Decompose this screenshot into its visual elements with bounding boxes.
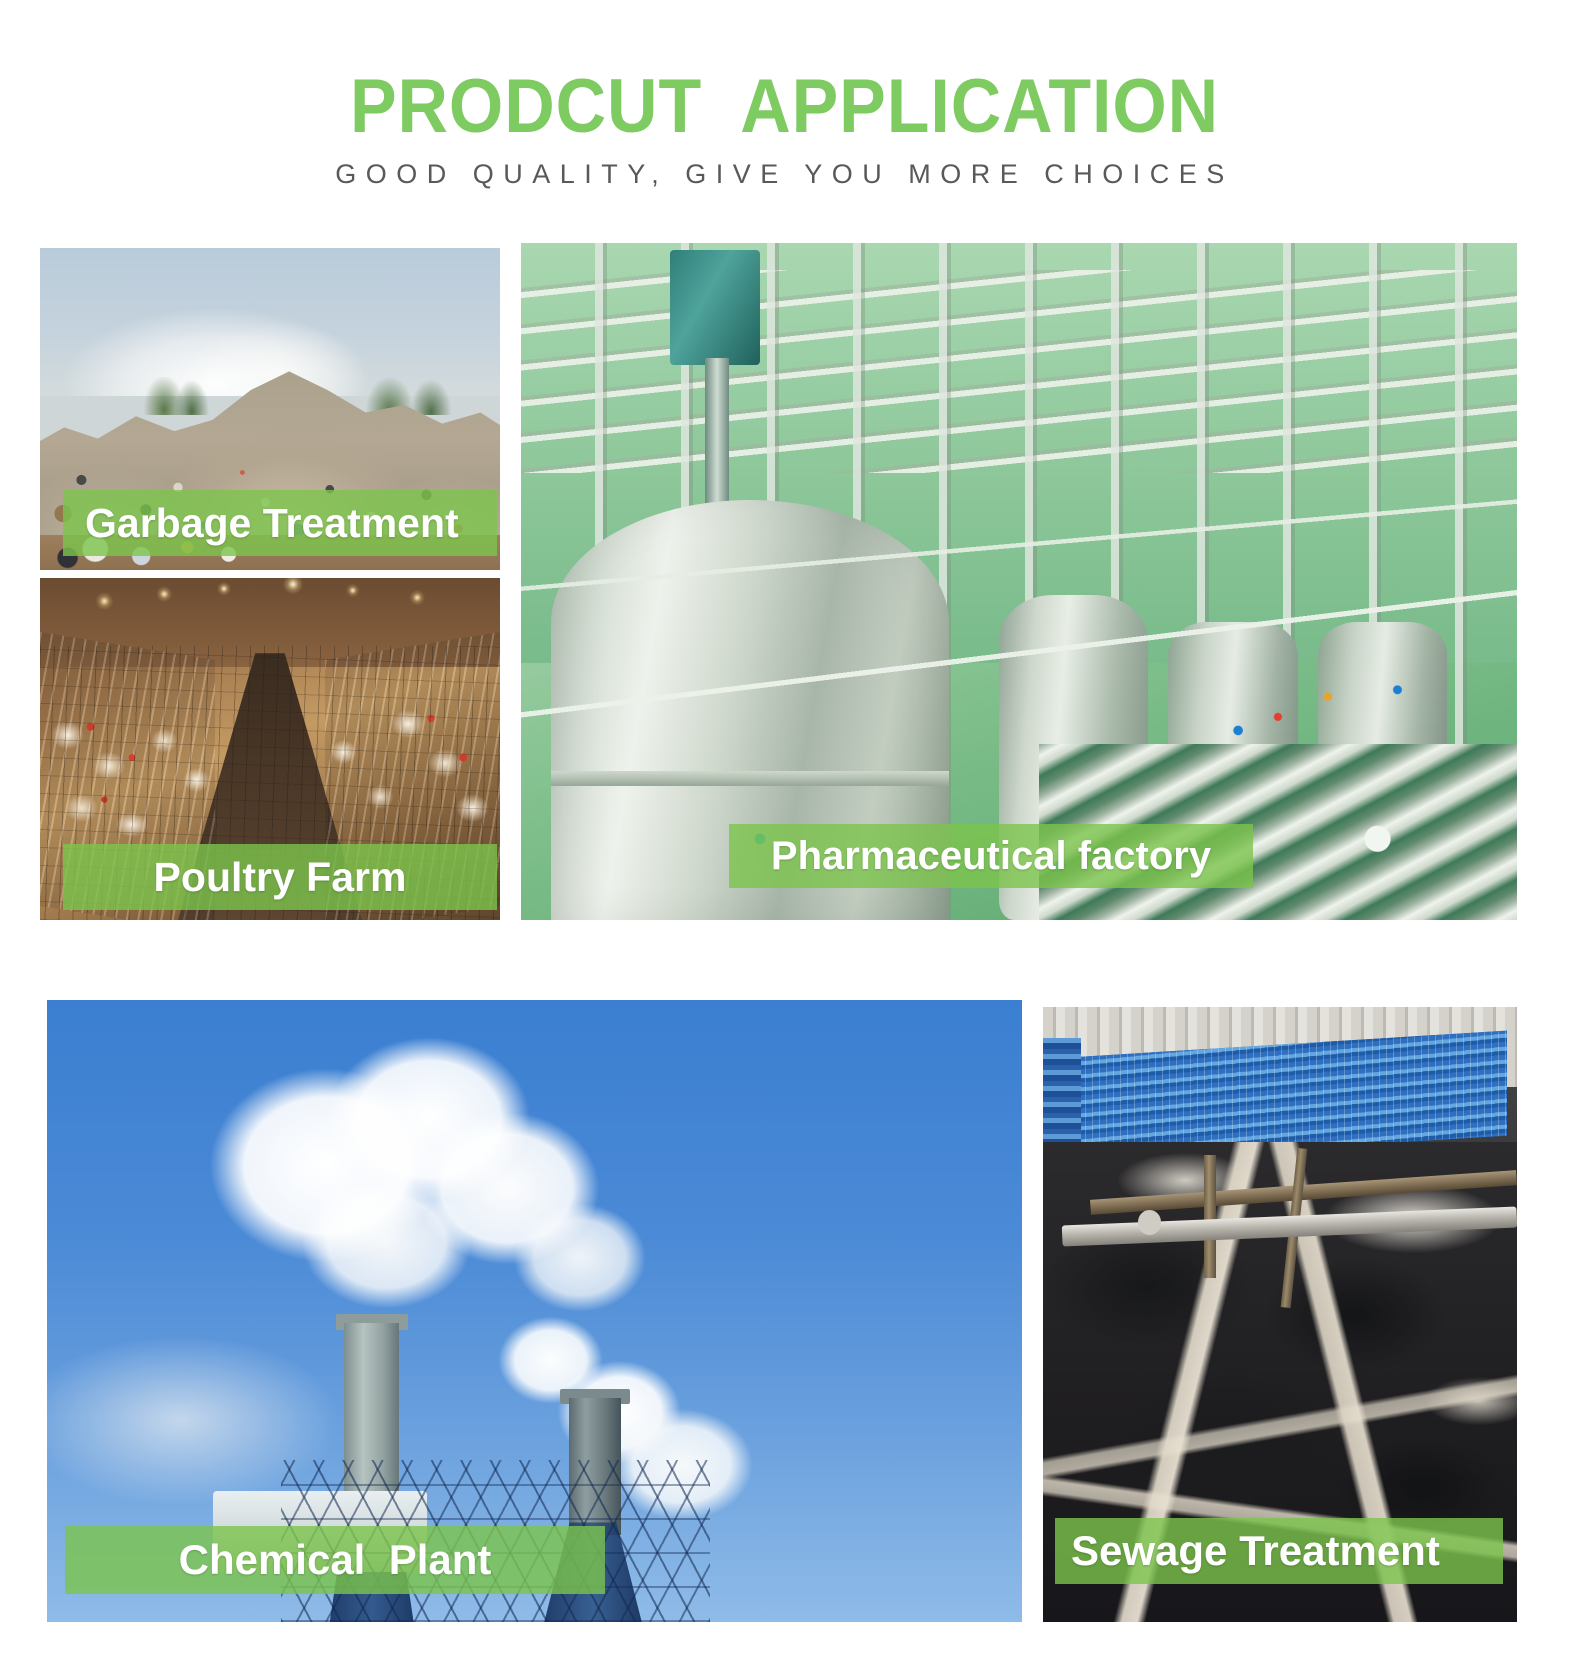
caption-poultry-farm: Poultry Farm: [63, 844, 497, 910]
caption-garbage-treatment: Garbage Treatment: [63, 490, 497, 556]
application-card-chemical-plant[interactable]: Chemical Plant: [47, 1000, 1022, 1622]
caption-chemical-plant: Chemical Plant: [65, 1526, 605, 1594]
application-card-pharmaceutical-factory[interactable]: Pharmaceutical factory: [521, 243, 1517, 920]
page-subtitle: GOOD QUALITY, GIVE YOU MORE CHOICES: [0, 158, 1569, 190]
page-title: PRODCUT APPLICATION: [63, 66, 1506, 148]
caption-pharmaceutical-factory: Pharmaceutical factory: [729, 824, 1253, 888]
application-card-poultry-farm[interactable]: Poultry Farm: [40, 578, 500, 920]
page-header: PRODCUT APPLICATION GOOD QUALITY, GIVE Y…: [0, 0, 1569, 225]
pharmaceutical-factory-photo: [521, 243, 1517, 920]
vertical-pipe: [1204, 1155, 1216, 1278]
caption-sewage-treatment: Sewage Treatment: [1055, 1518, 1503, 1584]
valve-wheel: [1138, 1210, 1162, 1235]
application-card-garbage-treatment[interactable]: Garbage Treatment: [40, 248, 500, 570]
application-card-sewage-treatment[interactable]: Sewage Treatment: [1043, 1007, 1517, 1622]
valve-details-layer: [521, 243, 1517, 920]
